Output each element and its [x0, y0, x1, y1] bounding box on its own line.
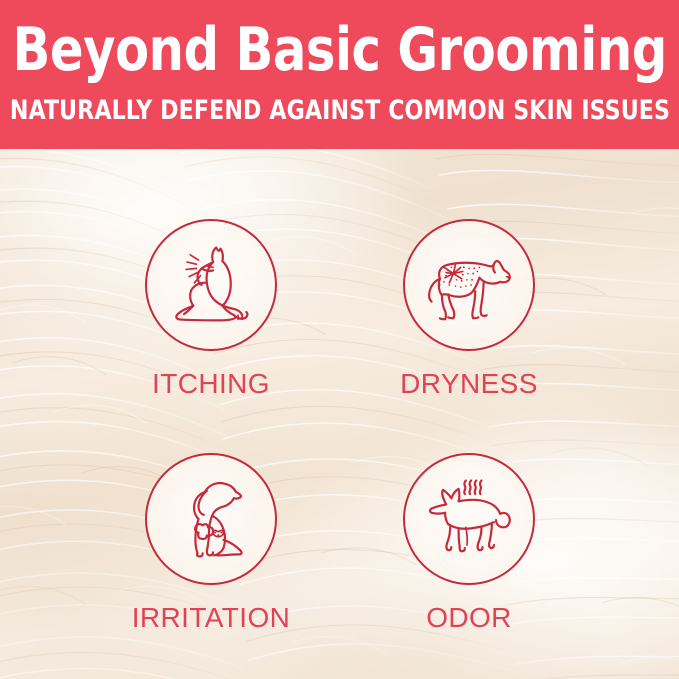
benefit-item-odor: ODOR	[379, 453, 559, 632]
dog-scratching-icon	[145, 219, 277, 351]
page-subtitle: NATURALLY DEFEND AGAINST COMMON SKIN ISS…	[9, 98, 669, 125]
benefit-item-irritation: IRRITATION	[121, 453, 301, 632]
header-banner: Beyond Basic Grooming NATURALLY DEFEND A…	[0, 0, 679, 149]
benefit-item-dryness: DRYNESS	[379, 219, 559, 398]
benefit-label-odor: ODOR	[379, 604, 559, 632]
dog-irritated-patch-icon	[145, 453, 277, 585]
grooming-infographic: Beyond Basic Grooming NATURALLY DEFEND A…	[0, 0, 679, 679]
dog-scratching-glyph	[159, 233, 263, 337]
benefit-label-dryness: DRYNESS	[379, 370, 559, 398]
dog-odor-glyph	[417, 467, 521, 571]
benefit-label-irritation: IRRITATION	[121, 604, 301, 632]
dog-dry-flaky-skin-icon	[403, 219, 535, 351]
dog-dry-skin-glyph	[417, 233, 521, 337]
benefits-grid: ITCHING	[0, 149, 679, 679]
dog-irritation-glyph	[159, 467, 263, 571]
benefit-label-itching: ITCHING	[121, 370, 301, 398]
benefit-item-itching: ITCHING	[121, 219, 301, 398]
page-title: Beyond Basic Grooming	[12, 20, 666, 80]
dog-odor-waves-icon	[403, 453, 535, 585]
